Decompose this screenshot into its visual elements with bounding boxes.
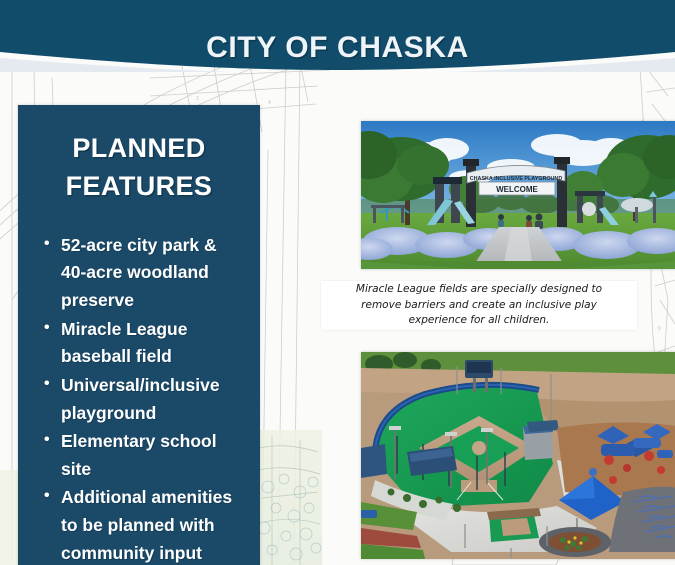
- arch-sign-top-text: CHASKA INCLUSIVE PLAYGROUND: [470, 176, 563, 182]
- list-item: 52-acre city park & 40-acre woodland pre…: [44, 232, 240, 315]
- planned-features-panel: PLANNED FEATURES 52-acre city park & 40-…: [18, 105, 260, 565]
- list-item: Universal/inclusive playground: [44, 372, 240, 427]
- header-banner: CITY OF CHASKA: [0, 0, 675, 72]
- feature-list: 52-acre city park & 40-acre woodland pre…: [34, 232, 244, 565]
- svg-text:2: 2: [196, 96, 199, 102]
- caption-text: Miracle League fields are specially desi…: [335, 282, 623, 329]
- list-item: Miracle League baseball field: [44, 316, 240, 371]
- svg-text:9: 9: [658, 326, 661, 332]
- slide-canvas: 6 7 8 9 10 11 2 3 4 PARCEL 10 CITY OF CH…: [0, 0, 675, 565]
- panel-heading: PLANNED FEATURES: [34, 129, 244, 206]
- miracle-league-field-aerial-photo: [361, 352, 675, 559]
- panel-heading-line-1: PLANNED: [34, 129, 244, 167]
- miracle-league-caption-box: Miracle League fields are specially desi…: [321, 281, 637, 330]
- page-title: CITY OF CHASKA: [0, 20, 675, 76]
- list-item: Elementary school site: [44, 428, 240, 483]
- panel-heading-line-2: FEATURES: [34, 167, 244, 205]
- arch-sign-welcome-text: WELCOME: [496, 185, 538, 194]
- playground-rendering-photo: CHASKA INCLUSIVE PLAYGROUND WELCOME: [361, 121, 675, 269]
- list-item: Additional amenities to be planned with …: [44, 484, 240, 565]
- svg-text:4: 4: [268, 100, 271, 106]
